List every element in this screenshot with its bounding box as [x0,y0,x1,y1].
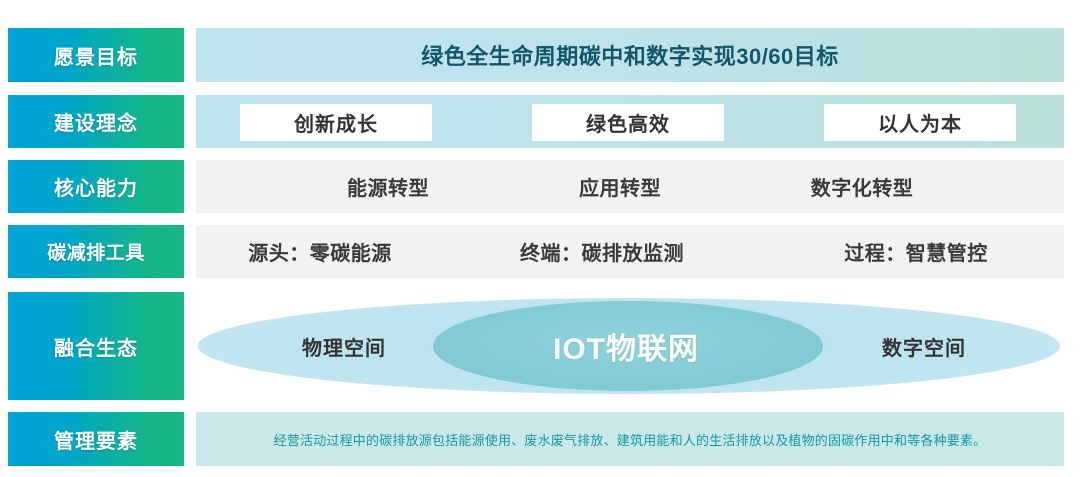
row-label-core-capability[interactable]: 核心能力 [8,160,184,213]
row-label-core-capability-text: 核心能力 [54,172,138,201]
carbon-tool-item-1[interactable]: 源头：零碳能源 [210,225,430,278]
row-label-carbon-tools-text: 碳减排工具 [47,238,145,265]
capability-item-2[interactable]: 应用转型 [526,160,714,213]
carbon-tool-item-2[interactable]: 终端：碳排放监测 [478,225,726,278]
carbon-tool-item-3[interactable]: 过程：智慧管控 [806,225,1026,278]
row-label-philosophy[interactable]: 建设理念 [8,95,184,148]
ecosystem-label-digital[interactable]: 数字空间 [816,292,1032,400]
vision-statement: 绿色全生命周期碳中和数字实现30/60目标 [196,28,1064,82]
row-panel-vision: 绿色全生命周期碳中和数字实现30/60目标 [196,28,1064,82]
row-label-ecosystem[interactable]: 融合生态 [8,292,184,400]
capability-item-1[interactable]: 能源转型 [294,160,482,213]
row-label-management[interactable]: 管理要素 [8,412,184,466]
row-label-vision-text: 愿景目标 [54,41,138,70]
concept-box-3[interactable]: 以人为本 [824,104,1016,141]
row-panel-management: 经营活动过程中的碳排放源包括能源使用、废水废气排放、建筑用能和人的生活排放以及植… [196,412,1064,466]
row-panel-ecosystem: 物理空间 IOT物联网 数字空间 [196,292,1064,400]
capability-item-3[interactable]: 数字化转型 [758,160,966,213]
ecosystem-label-iot[interactable]: IOT物联网 [476,292,776,400]
concept-box-1-label: 创新成长 [294,108,378,137]
concept-box-3-label: 以人为本 [878,108,962,137]
row-panel-carbon-tools: 源头：零碳能源 终端：碳排放监测 过程：智慧管控 [196,225,1064,278]
row-label-ecosystem-text: 融合生态 [54,332,138,361]
row-label-carbon-tools[interactable]: 碳减排工具 [8,225,184,278]
row-panel-core-capability: 能源转型 应用转型 数字化转型 [196,160,1064,213]
concept-box-2[interactable]: 绿色高效 [532,104,724,141]
concept-box-2-label: 绿色高效 [586,108,670,137]
row-panel-philosophy: 创新成长 绿色高效 以人为本 [196,95,1064,148]
ecosystem-label-physical[interactable]: 物理空间 [236,292,452,400]
concept-box-1[interactable]: 创新成长 [240,104,432,141]
management-note: 经营活动过程中的碳排放源包括能源使用、废水废气排放、建筑用能和人的生活排放以及植… [196,412,1064,466]
row-label-philosophy-text: 建设理念 [54,107,138,136]
strategy-framework-diagram: 愿景目标 绿色全生命周期碳中和数字实现30/60目标 建设理念 创新成长 绿色高… [0,0,1080,477]
row-label-vision[interactable]: 愿景目标 [8,28,184,82]
row-label-management-text: 管理要素 [54,425,138,454]
